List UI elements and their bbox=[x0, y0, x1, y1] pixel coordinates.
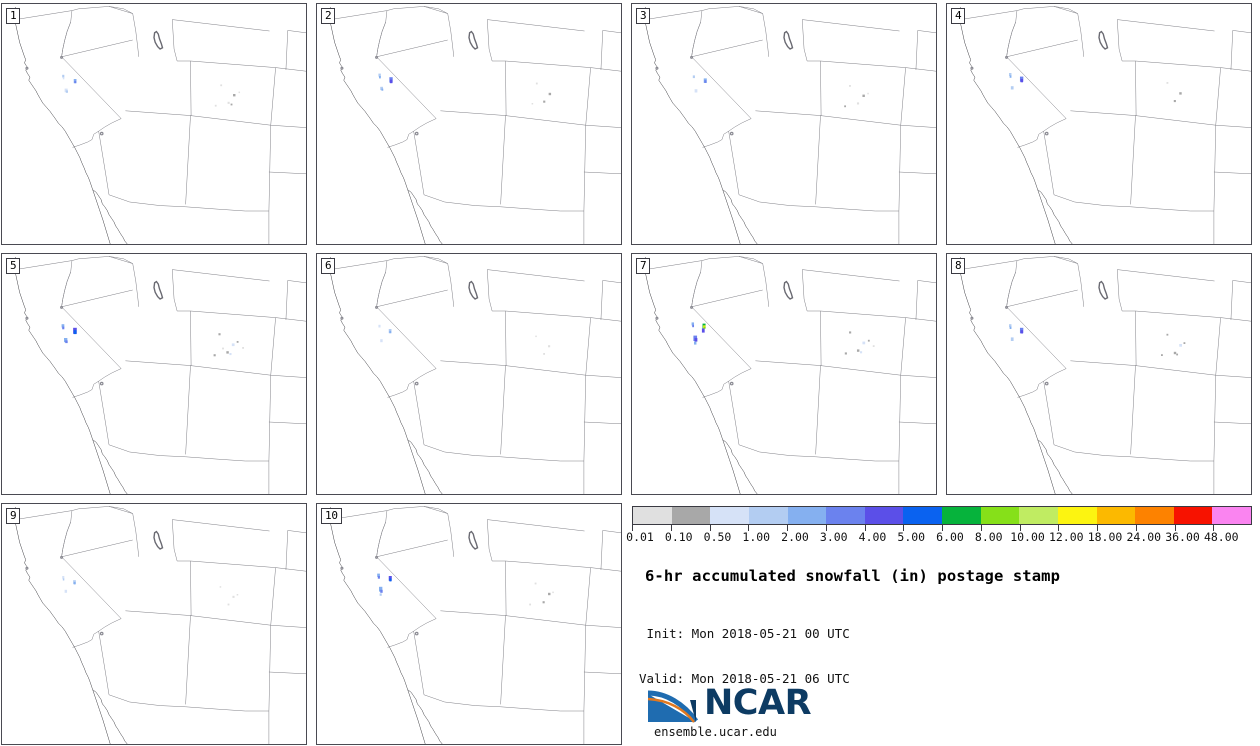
colorbar-cell bbox=[1058, 507, 1097, 524]
snowfall-cell bbox=[543, 101, 545, 103]
panel-number-label: 1 bbox=[6, 8, 20, 24]
snowfall-cell bbox=[1174, 352, 1176, 354]
snowfall-cell bbox=[704, 80, 706, 83]
inland-lake bbox=[971, 317, 973, 319]
coastline bbox=[14, 257, 127, 494]
colorbar-tick-label: 36.00 bbox=[1165, 531, 1200, 544]
snowfall-cell bbox=[381, 89, 383, 91]
snowfall-cell bbox=[860, 351, 862, 353]
inland-lake bbox=[376, 307, 378, 309]
snowfall-cell bbox=[552, 592, 554, 594]
ncar-wordmark: NCAR bbox=[704, 686, 811, 721]
snowfall-cell bbox=[1010, 327, 1012, 329]
colorbar-tick-label: 2.00 bbox=[781, 531, 809, 544]
panel-number-label: 2 bbox=[321, 8, 335, 24]
snowfall-field bbox=[62, 75, 240, 107]
map-geography bbox=[2, 4, 306, 244]
snowfall-cell bbox=[65, 340, 67, 343]
inland-lake bbox=[415, 382, 417, 384]
snowfall-cell bbox=[849, 331, 851, 333]
snowfall-cell bbox=[535, 336, 537, 338]
snowfall-field bbox=[1009, 324, 1185, 356]
snowfall-cell bbox=[63, 578, 65, 580]
snowfall-cell bbox=[1011, 86, 1014, 89]
snowfall-cell bbox=[242, 347, 244, 349]
snowfall-cell bbox=[231, 104, 233, 106]
inland-lake bbox=[691, 307, 693, 309]
snowfall-field bbox=[1009, 73, 1182, 102]
inland-lake bbox=[61, 307, 63, 309]
snowfall-cell bbox=[378, 576, 380, 579]
inland-lake bbox=[1006, 307, 1008, 309]
colorbar-tick-label: 24.00 bbox=[1126, 531, 1161, 544]
colorbar-cell bbox=[981, 507, 1020, 524]
snowfall-cell bbox=[1166, 334, 1168, 336]
inland-lake bbox=[971, 67, 973, 69]
great-salt-lake bbox=[154, 32, 163, 49]
snowfall-cell bbox=[214, 354, 216, 356]
colorbar-tick-label: 3.00 bbox=[820, 531, 848, 544]
panel-number-label: 3 bbox=[636, 8, 650, 24]
great-salt-lake bbox=[784, 282, 793, 299]
map-panel-member-1[interactable]: 1 bbox=[1, 3, 307, 245]
inland-lake bbox=[61, 557, 63, 559]
great-salt-lake bbox=[154, 532, 163, 549]
snowfall-cell bbox=[529, 604, 531, 606]
coastline bbox=[959, 257, 1072, 494]
colorbar-cell bbox=[826, 507, 865, 524]
panel-number-label: 7 bbox=[636, 258, 650, 274]
great-salt-lake bbox=[469, 282, 478, 299]
colorbar: 0.010.100.501.002.003.004.005.006.008.00… bbox=[632, 506, 1252, 545]
panel-number-label: 6 bbox=[321, 258, 335, 274]
snowfall-cell bbox=[390, 80, 392, 84]
colorbar-cell bbox=[865, 507, 904, 524]
inland-lake bbox=[376, 57, 378, 59]
inland-lake bbox=[1006, 57, 1008, 59]
ncar-swoosh-icon bbox=[646, 682, 702, 724]
map-panel-member-8[interactable]: 8 bbox=[946, 253, 1252, 495]
snowfall-cell bbox=[229, 353, 231, 355]
colorbar-cell bbox=[942, 507, 981, 524]
map-panel-member-6[interactable]: 6 bbox=[316, 253, 622, 495]
map-panel-member-9[interactable]: 9 bbox=[1, 503, 307, 745]
coastline bbox=[329, 257, 442, 494]
coastline bbox=[644, 7, 757, 244]
snowfall-cell bbox=[849, 85, 851, 87]
snowfall-cell bbox=[1179, 92, 1181, 94]
snowfall-field bbox=[377, 574, 554, 606]
colorbar-tick-label: 0.01 bbox=[626, 531, 654, 544]
map-geography bbox=[632, 4, 936, 244]
snowfall-cell bbox=[233, 94, 235, 96]
colorbar-cell bbox=[1135, 507, 1174, 524]
snowfall-cell bbox=[1166, 82, 1168, 84]
ensemble-url-label: ensemble.ucar.edu bbox=[654, 725, 811, 739]
colorbar-cell bbox=[1174, 507, 1213, 524]
inland-lake bbox=[61, 57, 63, 59]
snowfall-cell bbox=[65, 590, 67, 593]
snowfall-cell bbox=[548, 593, 550, 595]
snowfall-cell bbox=[232, 343, 235, 346]
snowfall-cell bbox=[215, 105, 217, 107]
postage-stamp-panel-grid: 12345678910 bbox=[0, 0, 1260, 500]
inland-lake bbox=[341, 567, 343, 569]
snowfall-cell bbox=[1161, 354, 1163, 356]
snowfall-cell bbox=[862, 95, 864, 97]
snowfall-cell bbox=[218, 333, 220, 335]
snowfall-cell bbox=[226, 351, 228, 353]
snowfall-cell bbox=[692, 325, 694, 327]
inland-lake bbox=[415, 132, 417, 134]
colorbar-tick-label: 48.00 bbox=[1204, 531, 1239, 544]
snowfall-cell bbox=[532, 103, 534, 105]
snowfall-cell bbox=[862, 342, 865, 345]
snowfall-cell bbox=[549, 93, 551, 95]
snowfall-cell bbox=[74, 582, 76, 584]
logo-row: NCAR bbox=[646, 682, 811, 724]
map-geography bbox=[947, 254, 1251, 494]
snowfall-cell bbox=[844, 105, 846, 107]
inland-lake bbox=[100, 632, 102, 634]
snowfall-cell bbox=[867, 93, 869, 95]
colorbar-cell bbox=[749, 507, 788, 524]
snowfall-cell bbox=[543, 601, 545, 603]
great-salt-lake bbox=[469, 32, 478, 49]
snowfall-cell bbox=[845, 352, 847, 354]
snowfall-cell bbox=[380, 590, 382, 593]
inland-lake bbox=[1045, 132, 1047, 134]
inland-lake bbox=[730, 132, 732, 134]
snowfall-cell bbox=[536, 83, 538, 85]
snowfall-cell bbox=[857, 349, 859, 351]
colorbar-cell bbox=[710, 507, 749, 524]
snowfall-cell bbox=[704, 327, 706, 329]
colorbar-tick-label: 1.00 bbox=[742, 531, 770, 544]
colorbar-tick-label: 0.10 bbox=[665, 531, 693, 544]
map-panel-member-4[interactable]: 4 bbox=[946, 3, 1252, 245]
inland-lake bbox=[415, 632, 417, 634]
colorbar-tick-label: 8.00 bbox=[975, 531, 1003, 544]
colorbar-strip bbox=[632, 506, 1252, 525]
snowfall-field bbox=[62, 576, 238, 605]
snowfall-cell bbox=[868, 340, 870, 342]
snowfall-cell bbox=[1179, 344, 1182, 347]
panel-number-label: 5 bbox=[6, 258, 20, 274]
snowfall-cell bbox=[702, 328, 705, 332]
snowfall-field bbox=[378, 325, 550, 355]
map-geography bbox=[2, 254, 306, 494]
snowfall-cell bbox=[389, 578, 391, 581]
colorbar-tick-label: 6.00 bbox=[936, 531, 964, 544]
panel-number-label: 4 bbox=[951, 8, 965, 24]
inland-lake bbox=[656, 67, 658, 69]
colorbar-cell bbox=[672, 507, 711, 524]
map-panel-member-3[interactable]: 3 bbox=[631, 3, 937, 245]
snowfall-cell bbox=[232, 596, 234, 598]
snowfall-cell bbox=[222, 348, 224, 350]
great-salt-lake bbox=[1099, 282, 1108, 299]
colorbar-cell bbox=[788, 507, 827, 524]
snowfall-cell bbox=[380, 339, 382, 342]
snowfall-cell bbox=[1021, 79, 1023, 82]
map-panel-member-10[interactable]: 10 bbox=[316, 503, 622, 745]
map-geography bbox=[317, 4, 621, 244]
snowfall-cell bbox=[1174, 100, 1176, 102]
snowfall-cell bbox=[543, 353, 545, 355]
great-salt-lake bbox=[784, 32, 793, 49]
colorbar-cell bbox=[1019, 507, 1058, 524]
snowfall-cell bbox=[62, 576, 64, 579]
coastline bbox=[329, 507, 442, 744]
snowfall-cell bbox=[62, 327, 64, 330]
inland-lake bbox=[341, 67, 343, 69]
snowfall-cell bbox=[63, 77, 65, 79]
map-geography bbox=[2, 504, 306, 744]
snowfall-cell bbox=[695, 89, 698, 92]
snowfall-cell bbox=[220, 586, 222, 588]
snowfall-cell bbox=[857, 102, 859, 104]
coastline bbox=[14, 7, 127, 244]
snowfall-cell bbox=[237, 341, 239, 343]
panel-number-label: 10 bbox=[321, 508, 342, 524]
colorbar-cell bbox=[1212, 507, 1251, 524]
panel-number-label: 9 bbox=[6, 508, 20, 524]
snowfall-cell bbox=[380, 593, 382, 595]
map-geography bbox=[317, 504, 621, 744]
colorbar-tick-label: 12.00 bbox=[1049, 531, 1084, 544]
snowfall-cell bbox=[693, 75, 695, 78]
inland-lake bbox=[100, 132, 102, 134]
snowfall-field bbox=[62, 324, 244, 356]
colorbar-tick-label: 4.00 bbox=[859, 531, 887, 544]
inland-lake bbox=[26, 567, 28, 569]
coastline bbox=[329, 7, 442, 244]
snowfall-cell bbox=[548, 345, 550, 347]
coastline bbox=[14, 507, 127, 744]
inland-lake bbox=[656, 317, 658, 319]
snowfall-cell bbox=[1176, 354, 1178, 356]
colorbar-tick-label: 5.00 bbox=[897, 531, 925, 544]
coastline bbox=[959, 7, 1072, 244]
snowfall-cell bbox=[535, 583, 537, 585]
snowfall-cell bbox=[62, 75, 64, 78]
snowfall-cell bbox=[237, 594, 239, 596]
snowfall-cell bbox=[228, 604, 230, 606]
inland-lake bbox=[100, 382, 102, 384]
inland-lake bbox=[26, 317, 28, 319]
colorbar-tick-label: 0.50 bbox=[704, 531, 732, 544]
snowfall-field bbox=[378, 74, 551, 105]
snowfall-cell bbox=[389, 331, 391, 333]
snowfall-cell bbox=[1010, 75, 1012, 77]
snowfall-cell bbox=[228, 102, 230, 104]
colorbar-tick-labels: 0.010.100.501.002.003.004.005.006.008.00… bbox=[632, 531, 1252, 545]
colorbar-cell bbox=[1097, 507, 1136, 524]
snowfall-cell bbox=[695, 338, 698, 342]
snowfall-cell bbox=[66, 90, 68, 92]
inland-lake bbox=[691, 57, 693, 59]
map-panel-member-7[interactable]: 7 bbox=[631, 253, 937, 495]
map-geography bbox=[632, 254, 936, 494]
inland-lake bbox=[376, 557, 378, 559]
great-salt-lake bbox=[469, 532, 478, 549]
snowfall-cell bbox=[1011, 337, 1014, 341]
inland-lake bbox=[26, 67, 28, 69]
colorbar-cell bbox=[903, 507, 942, 524]
snowfall-cell bbox=[239, 92, 241, 94]
map-panel-member-2[interactable]: 2 bbox=[316, 3, 622, 245]
map-geography bbox=[947, 4, 1251, 244]
snowfall-cell bbox=[694, 342, 696, 345]
colorbar-cell bbox=[633, 507, 672, 524]
coastline bbox=[644, 257, 757, 494]
snowfall-cell bbox=[379, 76, 381, 78]
inland-lake bbox=[1045, 382, 1047, 384]
snowfall-cell bbox=[873, 345, 875, 347]
great-salt-lake bbox=[1099, 32, 1108, 49]
colorbar-tick-label: 10.00 bbox=[1010, 531, 1045, 544]
snowfall-cell bbox=[378, 325, 380, 328]
snowfall-cell bbox=[1021, 330, 1023, 333]
map-geography bbox=[317, 254, 621, 494]
snowfall-cell bbox=[1184, 342, 1186, 344]
snowfall-field bbox=[692, 322, 875, 354]
snowfall-cell bbox=[74, 81, 76, 83]
init-time-line: Init: Mon 2018-05-21 00 UTC bbox=[639, 626, 850, 641]
snowfall-cell bbox=[220, 84, 222, 86]
snowfall-field bbox=[693, 75, 869, 107]
great-salt-lake bbox=[154, 282, 163, 299]
map-panel-member-5[interactable]: 5 bbox=[1, 253, 307, 495]
inland-lake bbox=[341, 317, 343, 319]
figure-title: 6-hr accumulated snowfall (in) postage s… bbox=[645, 567, 1060, 585]
inland-lake bbox=[730, 382, 732, 384]
colorbar-tick-label: 18.00 bbox=[1088, 531, 1123, 544]
panel-number-label: 8 bbox=[951, 258, 965, 274]
ncar-logo-block: NCAR ensemble.ucar.edu bbox=[646, 682, 811, 739]
snowfall-cell bbox=[74, 330, 77, 334]
